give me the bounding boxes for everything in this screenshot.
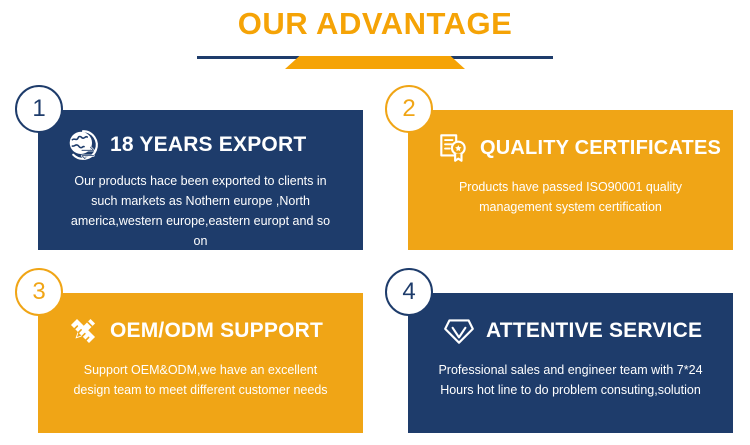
card-title-row: 18 YEARS EXPORT [52, 128, 349, 162]
page-title: OUR ADVANTAGE [0, 6, 750, 42]
card-title: 18 YEARS EXPORT [110, 133, 306, 157]
header: OUR ADVANTAGE [0, 0, 750, 78]
card-description: Professional sales and engineer team wit… [422, 360, 719, 400]
card-description: Support OEM&ODM,we have an excellent des… [52, 360, 349, 400]
card-title-row: OEM/ODM SUPPORT [52, 311, 349, 351]
certificate-award-icon [436, 131, 470, 165]
card-description: Our products hace been exported to clien… [52, 171, 349, 251]
card-title: ATTENTIVE SERVICE [486, 319, 702, 343]
card-title: QUALITY CERTIFICATES [480, 137, 721, 160]
card-content: OEM/ODM SUPPORT Support OEM&ODM,we have … [38, 293, 363, 433]
advantage-infographic: OUR ADVANTAGE 18 YEARS EXPORT [0, 0, 750, 445]
card-description: Products have passed ISO90001 quality ma… [422, 177, 719, 217]
card-title: OEM/ODM SUPPORT [110, 319, 323, 343]
divider-accent-trapezoid [285, 56, 465, 69]
card-content: ATTENTIVE SERVICE Professional sales and… [408, 293, 733, 433]
title-divider [197, 56, 553, 74]
card-content: 18 YEARS EXPORT Our products hace been e… [38, 110, 363, 250]
card-number-badge: 1 [15, 85, 63, 133]
card-number-badge: 4 [385, 268, 433, 316]
diamond-check-icon [442, 314, 476, 348]
advantage-card-1: 18 YEARS EXPORT Our products hace been e… [38, 110, 363, 250]
card-title-row: ATTENTIVE SERVICE [422, 311, 719, 351]
card-content: QUALITY CERTIFICATES Products have passe… [408, 110, 733, 250]
card-number-badge: 2 [385, 85, 433, 133]
advantage-card-4: ATTENTIVE SERVICE Professional sales and… [408, 293, 733, 433]
pencil-ruler-icon [66, 314, 100, 348]
globe-exchange-icon [66, 128, 100, 162]
card-number-badge: 3 [15, 268, 63, 316]
advantage-card-2: QUALITY CERTIFICATES Products have passe… [408, 110, 733, 250]
card-title-row: QUALITY CERTIFICATES [422, 128, 719, 168]
advantage-card-3: OEM/ODM SUPPORT Support OEM&ODM,we have … [38, 293, 363, 433]
